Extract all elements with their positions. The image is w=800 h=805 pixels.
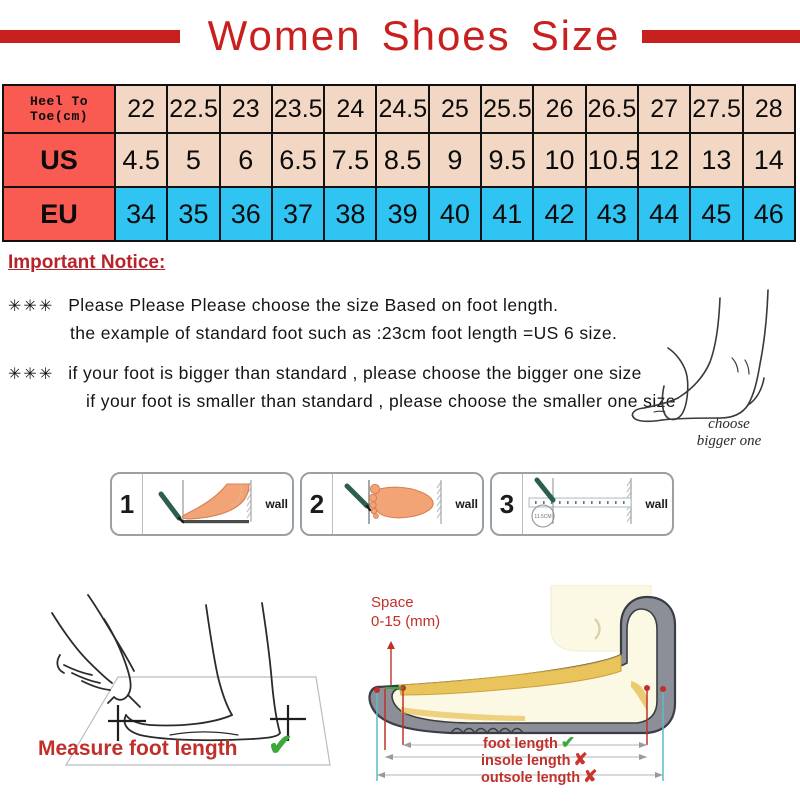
cell-us-0: 4.5 [115, 133, 167, 187]
cell-eu-1: 35 [167, 187, 219, 241]
cell-us-3: 6.5 [272, 133, 324, 187]
cell-us-10: 12 [638, 133, 690, 187]
cell-eu-8: 42 [533, 187, 585, 241]
measure-check-icon: ✔ [268, 731, 293, 761]
cell-eu-0: 34 [115, 187, 167, 241]
cross-icon-outsole: ✘ [583, 767, 597, 786]
cell-us-12: 14 [743, 133, 795, 187]
cell-us-7: 9.5 [481, 133, 533, 187]
cell-cm-8: 26 [533, 85, 585, 133]
measure-foot-length-panel: Measure foot length ✔ [0, 555, 360, 800]
notice-line-2: the example of standard foot such as :23… [8, 320, 800, 346]
foot-sketch-caption-line2: bigger one [674, 433, 784, 450]
step-3: 3 [490, 472, 674, 536]
title-word-2: Shoes [382, 12, 511, 59]
space-annotation-line1: Space [371, 593, 440, 612]
notice-block-2: ✳✳✳if your foot is bigger than standard … [8, 360, 800, 414]
cell-us-1: 5 [167, 133, 219, 187]
foot-sketch-caption: choose bigger one [674, 416, 784, 450]
notice-line-1-text: Please Please Please choose the size Bas… [68, 295, 558, 315]
legend-outsole-length: outsole length✘ [481, 767, 597, 787]
step-3-number: 3 [492, 474, 523, 534]
space-annotation: Space 0-15 (mm) [371, 593, 440, 631]
notice-line-3: ✳✳✳if your foot is bigger than standard … [8, 360, 800, 388]
notice-line-4: if your foot is smaller than standard , … [8, 388, 800, 414]
foot-sketch-caption-line1: choose [674, 416, 784, 433]
cell-us-11: 13 [690, 133, 742, 187]
cell-eu-11: 45 [690, 187, 742, 241]
table-row-heel-to-toe: Heel To Toe(cm) 22 22.5 23 23.5 24 24.5 … [3, 85, 795, 133]
title-rule-left [0, 30, 180, 43]
table-row-us: US 4.5 5 6 6.5 7.5 8.5 9 9.5 10 10.5 12 … [3, 133, 795, 187]
step-3-illustration: 11.5CM wall [523, 474, 672, 534]
cell-us-2: 6 [220, 133, 272, 187]
legend-outsole-length-text: outsole length [481, 770, 580, 786]
cell-cm-6: 25 [429, 85, 481, 133]
step-2-illustration: wall [333, 474, 482, 534]
cell-us-6: 9 [429, 133, 481, 187]
cell-cm-4: 24 [324, 85, 376, 133]
page-title: WomenShoesSize [198, 12, 631, 60]
cell-us-5: 8.5 [376, 133, 428, 187]
hand-tracing-foot-icon [0, 555, 360, 800]
cell-eu-2: 36 [220, 187, 272, 241]
space-annotation-line2: 0-15 (mm) [371, 612, 440, 631]
measure-foot-length-label: Measure foot length [38, 737, 238, 761]
step-1-illustration: wall [143, 474, 292, 534]
stars-marker-2: ✳✳✳ [8, 366, 54, 383]
cell-eu-3: 37 [272, 187, 324, 241]
cell-eu-4: 38 [324, 187, 376, 241]
cell-us-8: 10 [533, 133, 585, 187]
cell-eu-7: 41 [481, 187, 533, 241]
step-3-wall-label: wall [645, 497, 668, 511]
cell-eu-5: 39 [376, 187, 428, 241]
cell-cm-11: 27.5 [690, 85, 742, 133]
cell-eu-9: 43 [586, 187, 638, 241]
measurement-steps: 1 wall 2 [110, 472, 674, 536]
cell-eu-6: 40 [429, 187, 481, 241]
cell-cm-7: 25.5 [481, 85, 533, 133]
step-2: 2 wall [300, 472, 484, 536]
cell-us-9: 10.5 [586, 133, 638, 187]
cell-cm-9: 26.5 [586, 85, 638, 133]
cell-eu-10: 44 [638, 187, 690, 241]
cell-eu-12: 46 [743, 187, 795, 241]
step-1: 1 wall [110, 472, 294, 536]
cell-cm-12: 28 [743, 85, 795, 133]
step-2-number: 2 [302, 474, 333, 534]
important-notice-section: Important Notice: ✳✳✳Please Please Pleas… [8, 252, 800, 414]
row-header-us: US [3, 133, 115, 187]
cell-cm-1: 22.5 [167, 85, 219, 133]
page-title-bar: WomenShoesSize [0, 0, 800, 72]
svg-text:11.5CM: 11.5CM [534, 514, 551, 520]
shoe-cross-section-panel: Space 0-15 (mm) foot length✔ insole leng… [355, 585, 800, 800]
cell-cm-3: 23.5 [272, 85, 324, 133]
size-conversion-table: Heel To Toe(cm) 22 22.5 23 23.5 24 24.5 … [2, 84, 796, 242]
cell-cm-5: 24.5 [376, 85, 428, 133]
step-1-number: 1 [112, 474, 143, 534]
cell-us-4: 7.5 [324, 133, 376, 187]
title-word-1: Women [208, 12, 362, 59]
step-2-wall-label: wall [455, 497, 478, 511]
title-word-3: Size [531, 12, 621, 59]
cell-cm-2: 23 [220, 85, 272, 133]
row-header-heel-to-toe: Heel To Toe(cm) [3, 85, 115, 133]
title-rule-right [642, 30, 800, 43]
stars-marker-1: ✳✳✳ [8, 298, 54, 315]
row-header-eu: EU [3, 187, 115, 241]
notice-heading: Important Notice: [8, 252, 165, 274]
table-row-eu: EU 34 35 36 37 38 39 40 41 42 43 44 45 4… [3, 187, 795, 241]
cell-cm-0: 22 [115, 85, 167, 133]
cell-cm-10: 27 [638, 85, 690, 133]
notice-line-3-text: if your foot is bigger than standard , p… [68, 363, 642, 383]
notice-line-1: ✳✳✳Please Please Please choose the size … [8, 292, 800, 320]
notice-block-1: ✳✳✳Please Please Please choose the size … [8, 292, 800, 346]
step-1-wall-label: wall [265, 497, 288, 511]
